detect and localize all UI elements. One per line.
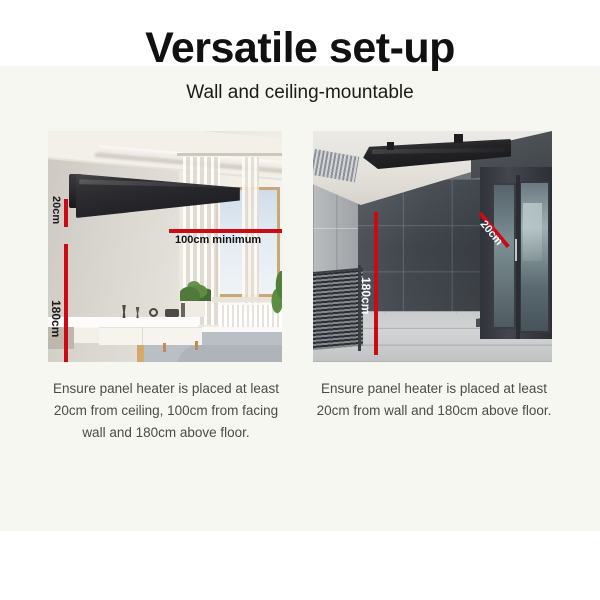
decor-ring [149,308,158,317]
dim-line-ceiling-clearance [64,199,68,227]
heater-body [363,139,511,169]
potted-plant [180,277,210,301]
console-drawer-divider [142,327,143,345]
curtain-rod [177,153,282,156]
dim-label-ceiling-clearance: 20cm [50,196,61,224]
dim-line-floor-clearance-right [374,212,378,355]
console-leg-right [195,341,198,350]
louvered-railing [313,268,363,350]
dim-label-facing-wall-clearance: 100cm minimum [175,235,261,246]
dim-line-floor-clearance [64,244,68,362]
caption-wall-mounted: Ensure panel heater is placed at least 2… [42,378,290,444]
dim-group-wall-clearance: 20cm [478,213,524,259]
caption-ceiling-mounted: Ensure panel heater is placed at least 2… [310,378,558,422]
decor-tray [165,309,179,317]
page-subtitle: Wall and ceiling-mountable [0,82,600,104]
page-title: Versatile set-up [0,27,600,70]
ceiling-mounted-panel-heater [363,139,511,169]
heater-body [76,172,240,218]
decor-candle [181,303,185,317]
console-drawers [99,327,202,345]
dim-label-floor-clearance-right: 180cm [360,277,372,314]
wall-mounted-photo [48,131,282,362]
console-leg-left [163,343,166,352]
dim-line-facing-wall-clearance [169,229,282,233]
glass-reflection [523,203,542,261]
plant-right [268,271,282,317]
bed-blanket [177,345,282,362]
dim-label-floor-clearance: 180cm [50,300,62,337]
heater-bracket-left [387,142,394,150]
product-feature-slide: Versatile set-up Wall and ceiling-mounta… [0,0,600,600]
dim-label-wall-clearance: 20cm [478,219,505,248]
heater-bracket-right [454,134,463,143]
wall-mounted-panel-heater [69,172,240,218]
